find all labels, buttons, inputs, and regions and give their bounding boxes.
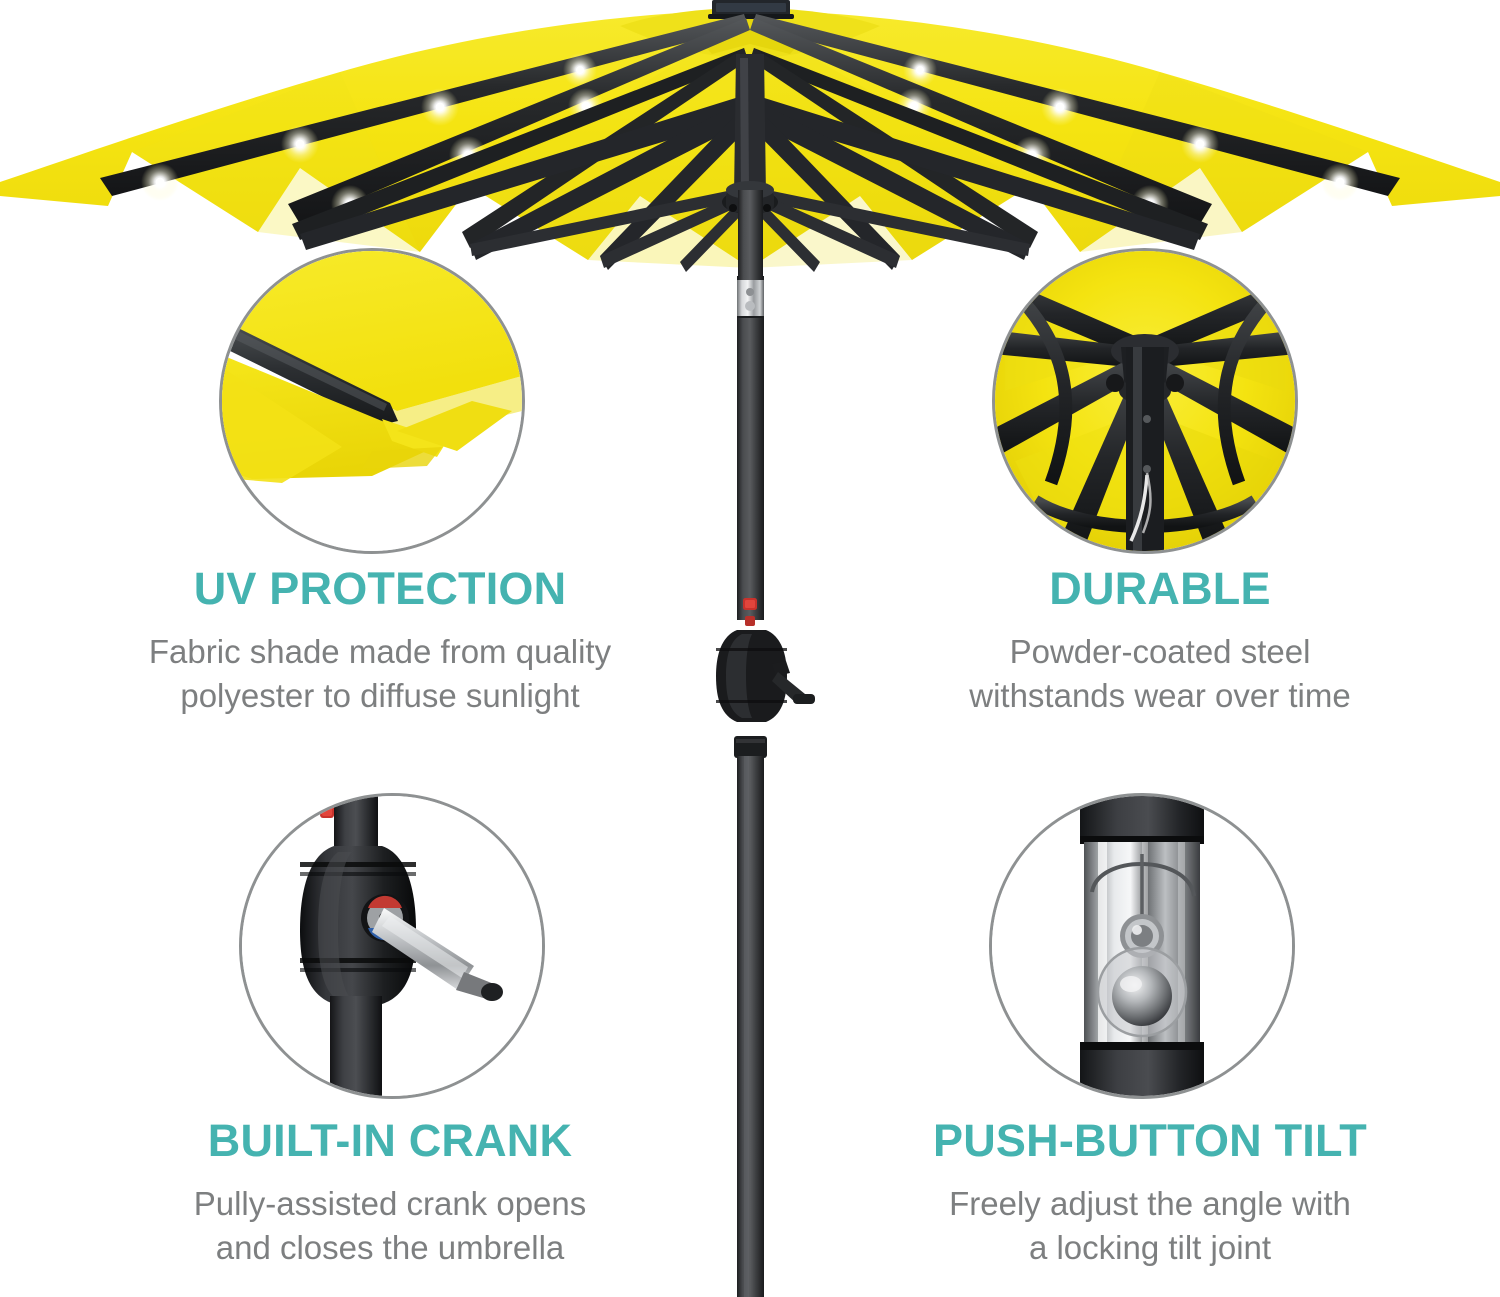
feature-title-durable: DURABLE <box>855 566 1465 611</box>
feature-desc-line: withstands wear over time <box>855 674 1465 718</box>
tilt-ball-joint <box>1098 948 1186 1036</box>
tilt-joint-chrome-closeup-icon <box>992 796 1292 1096</box>
feature-title-push-button-tilt: PUSH-BUTTON TILT <box>830 1118 1470 1163</box>
crank-housing <box>716 630 787 722</box>
pole-joint-collar <box>734 736 767 758</box>
feature-desc-line: polyester to diffuse sunlight <box>40 674 720 718</box>
rib-led-strip <box>288 18 750 224</box>
callout-circle-durable <box>992 248 1298 554</box>
rib-led-strip <box>750 18 1212 224</box>
feature-desc-line: and closes the umbrella <box>55 1226 725 1270</box>
feature-desc-line: Powder-coated steel <box>855 630 1465 674</box>
feature-desc-line: Freely adjust the angle with <box>830 1182 1470 1226</box>
rib-led-strip <box>100 14 748 201</box>
feature-desc-line: a locking tilt joint <box>830 1226 1470 1270</box>
umbrella-underside-frame <box>292 48 1208 272</box>
rib-led-strip <box>752 14 1400 201</box>
feature-block-push-button-tilt: PUSH-BUTTON TILT Freely adjust the angle… <box>830 1118 1470 1269</box>
umbrella-canopy <box>0 0 1500 268</box>
canopy-ribs-with-leds <box>100 14 1400 224</box>
led-switch-button <box>745 616 755 626</box>
feature-desc-push-button-tilt: Freely adjust the angle with a locking t… <box>830 1182 1470 1269</box>
feature-desc-uv-protection: Fabric shade made from quality polyester… <box>40 630 720 717</box>
feature-desc-line: Fabric shade made from quality <box>40 630 720 674</box>
feature-block-uv-protection: UV PROTECTION Fabric shade made from qua… <box>40 566 720 717</box>
infographic-page: UV PROTECTION Fabric shade made from qua… <box>0 0 1500 1297</box>
feature-block-built-in-crank: BUILT-IN CRANK Pully-assisted crank open… <box>55 1118 725 1269</box>
canopy-fabric-rib-closeup-icon <box>222 251 522 551</box>
callout-circle-push-button-tilt <box>989 793 1295 1099</box>
callout-circle-uv-protection <box>219 248 525 554</box>
crank-handle <box>772 661 815 704</box>
tilt-joint <box>737 276 764 320</box>
callout-circle-built-in-crank <box>239 793 545 1099</box>
power-button <box>743 598 757 610</box>
feature-block-durable: DURABLE Powder-coated steel withstands w… <box>855 566 1465 717</box>
feature-desc-line: Pully-assisted crank opens <box>55 1182 725 1226</box>
umbrella-pole <box>716 190 815 1297</box>
feature-title-built-in-crank: BUILT-IN CRANK <box>55 1118 725 1163</box>
crank-handle-closeup-icon <box>242 796 542 1096</box>
power-button-icon <box>320 802 334 818</box>
feature-title-uv-protection: UV PROTECTION <box>40 566 720 611</box>
solar-panel-icon <box>708 0 794 19</box>
feature-desc-durable: Powder-coated steel withstands wear over… <box>855 630 1465 717</box>
feature-desc-built-in-crank: Pully-assisted crank opens and closes th… <box>55 1182 725 1269</box>
umbrella-hub-underside-closeup-icon <box>995 251 1295 551</box>
runner-collar <box>722 181 778 214</box>
